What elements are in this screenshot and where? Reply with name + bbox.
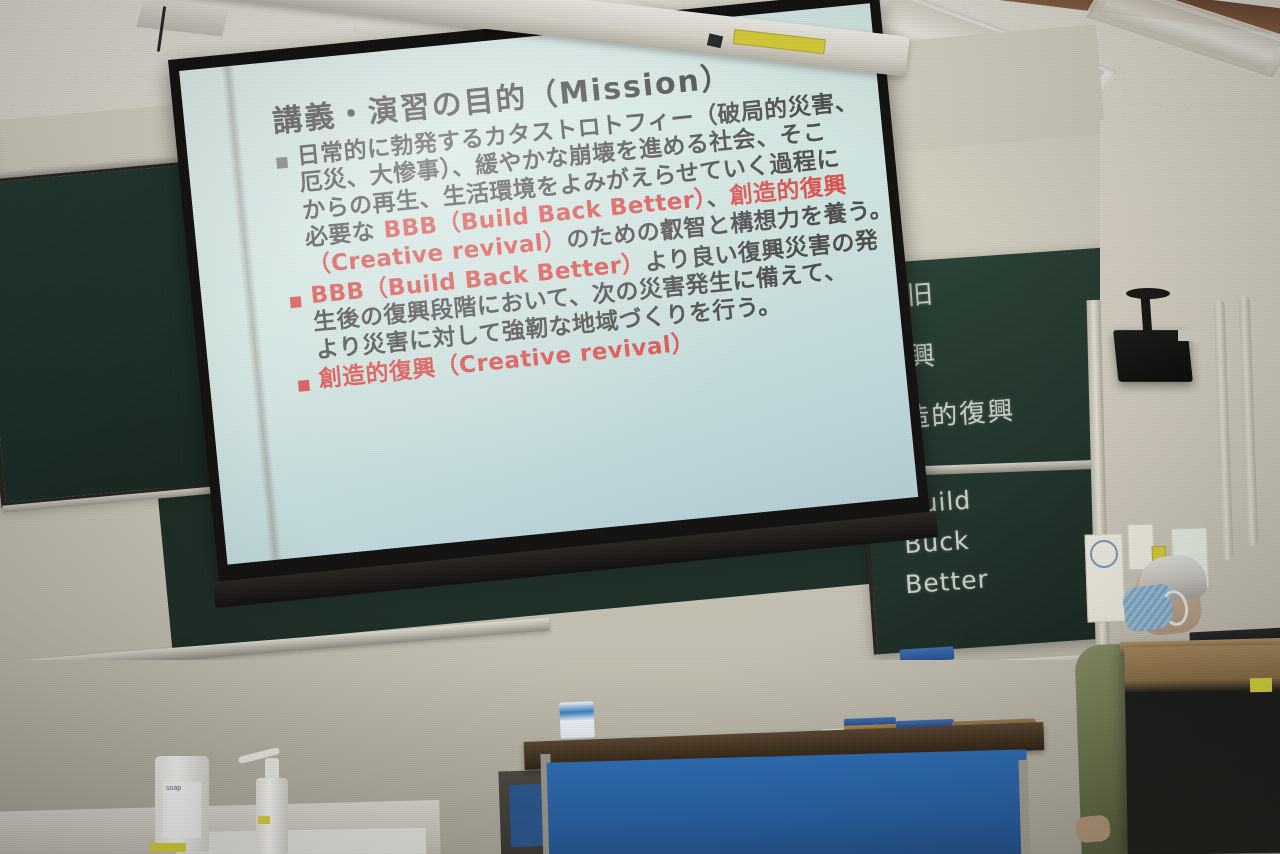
bullet-square-icon — [276, 156, 288, 168]
screen-frame: 講義・演習の目的（Mission） 日常的に勃発するカタストロトフィー（破局的災… — [168, 0, 930, 587]
roller-button[interactable] — [707, 33, 723, 48]
teacher-desk — [524, 730, 1044, 854]
lectern-label — [1250, 678, 1272, 692]
bullet-square-icon — [290, 296, 302, 308]
wall-notice-circle-icon — [1090, 540, 1118, 568]
pump-yellow-tape — [258, 816, 270, 824]
roller-warning-label — [733, 29, 826, 54]
desk-front-panel — [547, 749, 1030, 854]
slide-content: 講義・演習の目的（Mission） 日常的に勃発するカタストロトフィー（破局的災… — [271, 49, 885, 397]
sanitizer-yellow-tape — [150, 843, 186, 852]
tissue-box — [559, 701, 595, 738]
chalk-text-better: Better — [904, 564, 990, 599]
sanitizer-label: soap — [163, 782, 201, 838]
lecture-room-photo: 復旧 復興 創造的復興 Build Buck Better 講義・演習の目的（M… — [0, 0, 1280, 854]
projection-screen: 講義・演習の目的（Mission） 日常的に勃発するカタストロトフィー（破局的災… — [168, 0, 930, 587]
screen-seam — [221, 66, 282, 561]
projected-slide: 講義・演習の目的（Mission） 日常的に勃発するカタストロトフィー（破局的災… — [179, 3, 918, 564]
lectern — [1124, 645, 1280, 854]
lecturer-hand — [1075, 814, 1112, 843]
white-tray — [176, 828, 426, 854]
desk-right-edge — [1019, 760, 1031, 854]
bullet-square-icon — [298, 380, 310, 392]
